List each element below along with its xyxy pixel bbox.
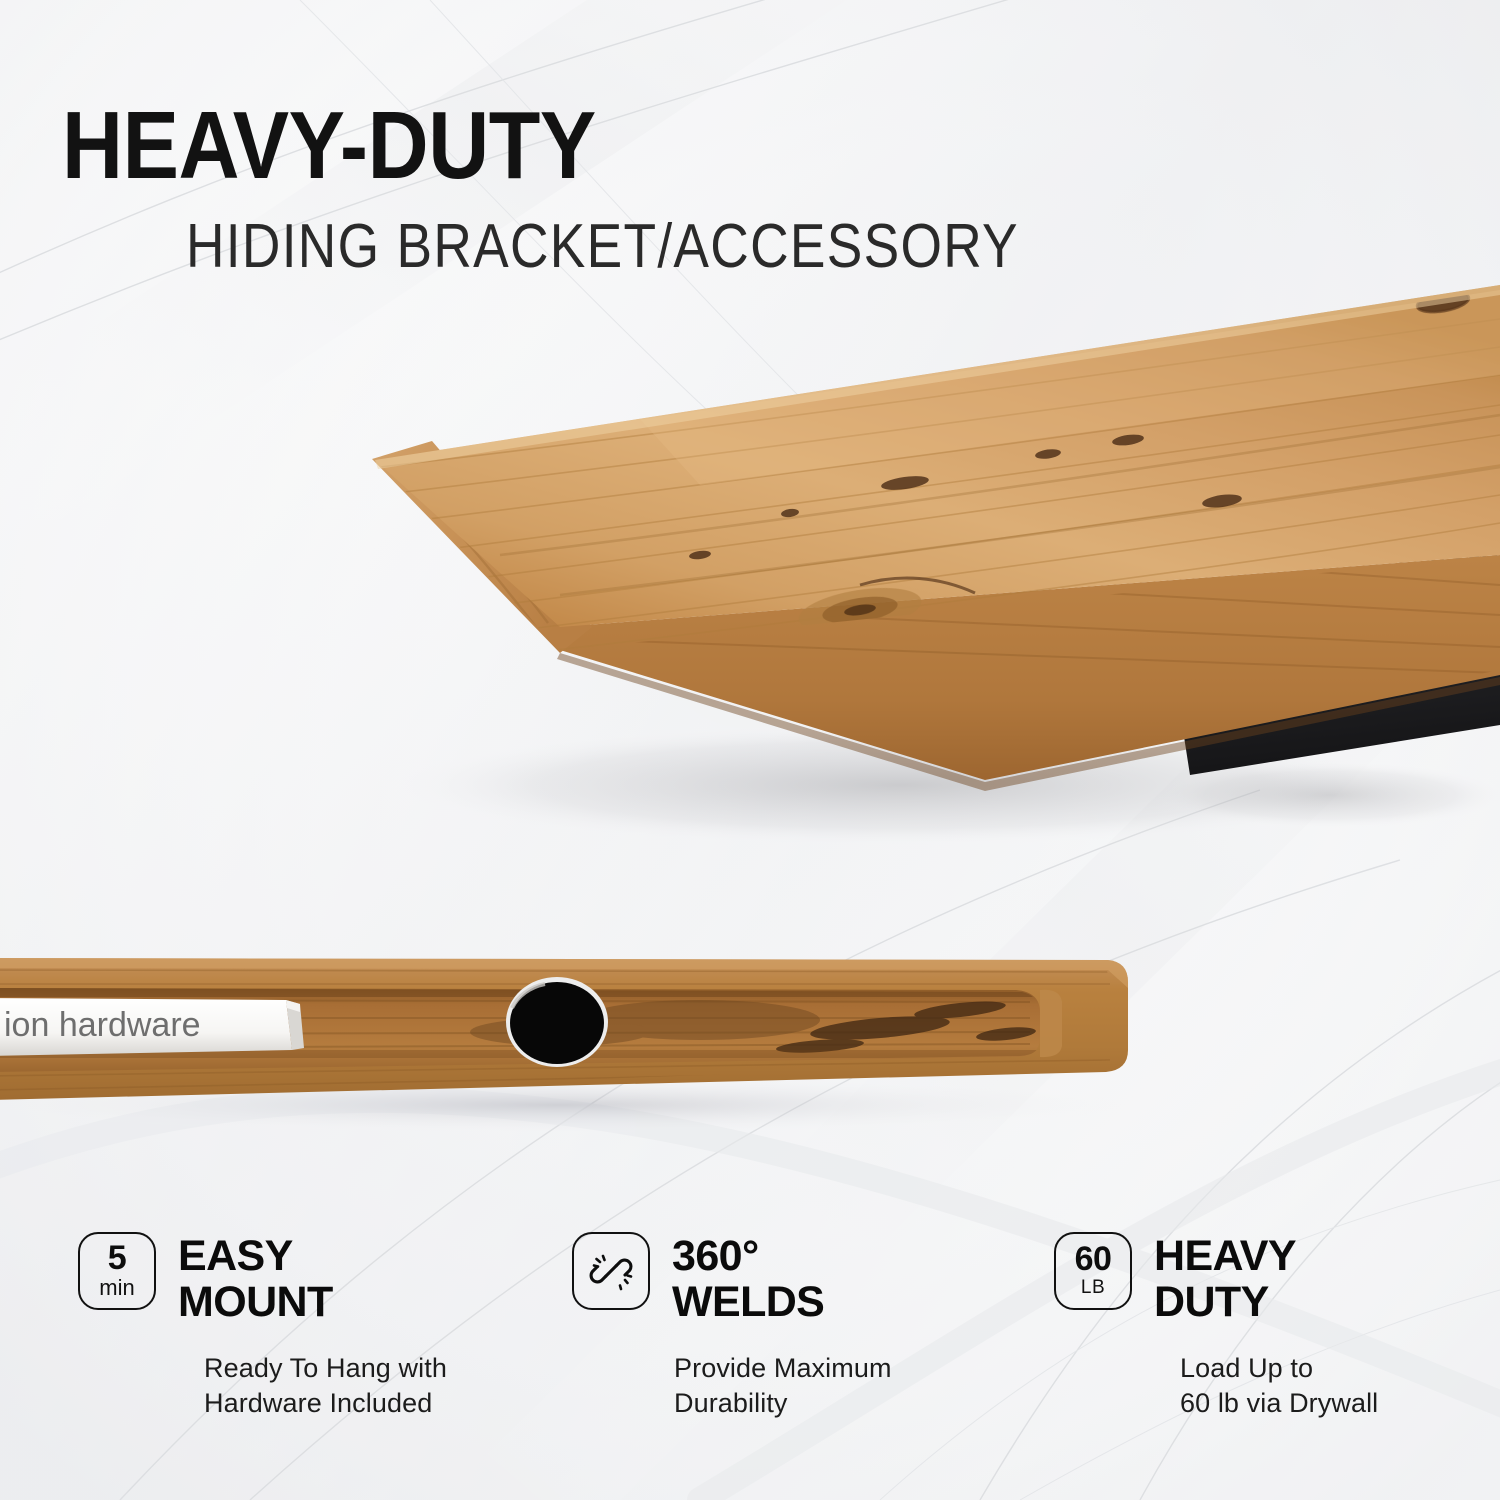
- hardware-box-label-bottom: ion hardware: [4, 1006, 201, 1044]
- feature-header: 360° WELDS: [572, 1232, 1018, 1325]
- wood-shelf-bottom: ion hardware: [0, 958, 1128, 1100]
- feature-title: HEAVY DUTY: [1154, 1232, 1296, 1325]
- page-title: HEAVY-DUTY: [62, 98, 596, 194]
- chain-link-weld-icon: [572, 1232, 650, 1310]
- feature-easy-mount: 5 min EASY MOUNT Ready To Hang with Hard…: [0, 1232, 524, 1452]
- five-minute-badge: 5 min: [78, 1232, 156, 1310]
- feature-title: EASY MOUNT: [178, 1232, 333, 1325]
- badge-unit: LB: [1081, 1278, 1105, 1299]
- feature-row: 5 min EASY MOUNT Ready To Hang with Hard…: [0, 1232, 1500, 1452]
- bracket-mounting-hole: [506, 977, 608, 1067]
- feature-description: Ready To Hang with Hardware Included: [204, 1351, 524, 1420]
- feature-description: Load Up to 60 lb via Drywall: [1180, 1351, 1500, 1420]
- wood-shelf-top: [372, 275, 1500, 791]
- badge-number: 5: [108, 1242, 126, 1275]
- badge-unit: min: [99, 1276, 134, 1300]
- sixty-pound-badge: 60 LB: [1054, 1232, 1132, 1310]
- page-subtitle: HIDING BRACKET/ACCESSORY: [186, 216, 1019, 278]
- feature-header: 5 min EASY MOUNT: [78, 1232, 524, 1325]
- feature-heavy-duty: 60 LB HEAVY DUTY Load Up to 60 lb via Dr…: [1018, 1232, 1500, 1452]
- feature-description: Provide Maximum Durability: [674, 1351, 1018, 1420]
- feature-title: 360° WELDS: [672, 1232, 824, 1325]
- feature-header: 60 LB HEAVY DUTY: [1054, 1232, 1500, 1325]
- product-photo-top: Installatio: [0, 255, 1500, 865]
- installation-hardware-box-bottom: ion hardware: [0, 998, 304, 1056]
- product-photo-bottom: ion hardware: [0, 900, 1500, 1190]
- badge-number: 60: [1075, 1243, 1112, 1276]
- feature-360-welds: 360° WELDS Provide Maximum Durability: [524, 1232, 1018, 1452]
